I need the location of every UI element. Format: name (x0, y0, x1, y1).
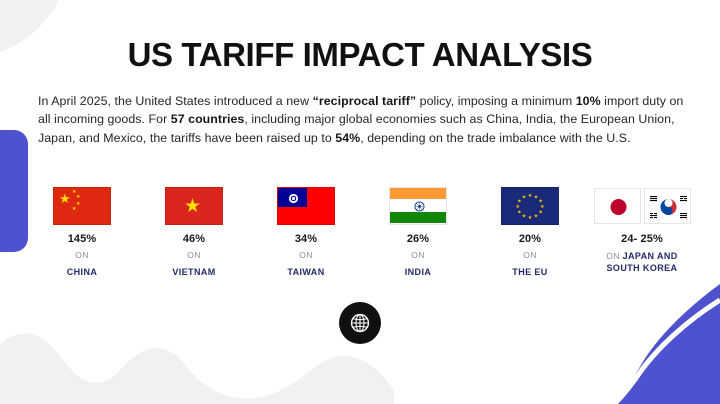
tariff-country-label: INDIA (405, 266, 432, 278)
svg-text:★: ★ (522, 194, 527, 200)
tariff-card-european-union[interactable]: ★ ★ ★ ★ ★ ★ ★ ★ ★ ★ ★ ★ (476, 186, 584, 278)
tariff-country-label-line2: SOUTH KOREA (607, 263, 678, 273)
taiwan-flag-icon (277, 187, 335, 225)
tariff-percent: 20% (519, 233, 541, 245)
svg-text:★: ★ (538, 209, 543, 215)
tariff-percent: 46% (183, 233, 205, 245)
tariff-country-label-line1: JAPAN AND (623, 251, 678, 261)
flag-holder (277, 186, 335, 225)
tariff-percent: 26% (407, 233, 429, 245)
tariff-country-label: THE EU (512, 266, 547, 278)
tariff-card-row: ★ ★ ★ ★ ★ 145% ON CHINA ★ 46% ON VIETNAM (28, 186, 696, 278)
tariff-on-label: ON (411, 250, 425, 260)
tariff-country-label: CHINA (67, 266, 98, 278)
tariff-card-vietnam[interactable]: ★ 46% ON VIETNAM (140, 186, 248, 278)
flag-holder: ★ ★ ★ ★ ★ (53, 186, 111, 225)
tariff-on-label: ON (299, 250, 313, 260)
india-flag-icon (389, 187, 447, 225)
flag-holder (389, 186, 447, 225)
svg-text:★: ★ (517, 209, 522, 215)
japan-flag-icon (594, 188, 641, 224)
decorative-bar-left (0, 130, 28, 252)
tariff-card-japan-south-korea[interactable]: 24- 25% ON JAPAN AND SOUTH KOREA (588, 186, 696, 274)
tariff-on-label: ON (75, 250, 89, 260)
page-title: US TARIFF IMPACT ANALYSIS (0, 36, 720, 74)
flag-holder-dual (594, 186, 691, 225)
svg-text:★: ★ (528, 215, 533, 221)
tariff-card-china[interactable]: ★ ★ ★ ★ ★ 145% ON CHINA (28, 186, 136, 278)
tariff-on-label: ON (187, 250, 201, 260)
svg-text:★: ★ (534, 213, 539, 219)
vietnam-flag-icon: ★ (165, 187, 223, 225)
flag-holder: ★ (165, 186, 223, 225)
tariff-card-india[interactable]: 26% ON INDIA (364, 186, 472, 278)
tariff-on-country-label: ON JAPAN AND SOUTH KOREA (606, 250, 677, 274)
svg-text:★: ★ (522, 213, 527, 219)
tariff-percent: 34% (295, 233, 317, 245)
paragraph-part-1: In April 2025, the United States introdu… (38, 94, 313, 108)
tariff-percent: 24- 25% (621, 233, 663, 245)
paragraph-part-2: policy, imposing a minimum (416, 94, 576, 108)
european-union-flag-icon: ★ ★ ★ ★ ★ ★ ★ ★ ★ ★ ★ ★ (501, 187, 559, 225)
tariff-country-label: TAIWAN (287, 266, 324, 278)
paragraph-bold-max-rate: 54% (335, 131, 360, 145)
china-flag-icon: ★ ★ ★ ★ ★ (53, 187, 111, 225)
summary-paragraph: In April 2025, the United States introdu… (38, 92, 686, 147)
tariff-percent: 145% (68, 233, 97, 245)
decorative-corner-shape-bottomright (570, 284, 720, 404)
tariff-on-label: ON (523, 250, 537, 260)
svg-text:★: ★ (516, 204, 521, 210)
tariff-card-taiwan[interactable]: 34% ON TAIWAN (252, 186, 360, 278)
globe-icon (349, 312, 371, 334)
slide-canvas: US TARIFF IMPACT ANALYSIS In April 2025,… (0, 0, 720, 404)
tariff-on-label: ON (606, 251, 622, 261)
globe-badge[interactable] (339, 302, 381, 344)
decorative-wave-bottom (0, 312, 480, 404)
flag-holder: ★ ★ ★ ★ ★ ★ ★ ★ ★ ★ ★ ★ (501, 186, 559, 225)
paragraph-bold-country-count: 57 countries (171, 112, 245, 126)
south-korea-flag-icon (644, 188, 691, 224)
paragraph-bold-minimum-rate: 10% (576, 94, 601, 108)
tariff-country-label: VIETNAM (172, 266, 215, 278)
paragraph-part-5: , depending on the trade imbalance with … (360, 131, 630, 145)
paragraph-bold-reciprocal-tariff: “reciprocal tariff” (313, 94, 417, 108)
svg-text:★: ★ (528, 193, 533, 199)
